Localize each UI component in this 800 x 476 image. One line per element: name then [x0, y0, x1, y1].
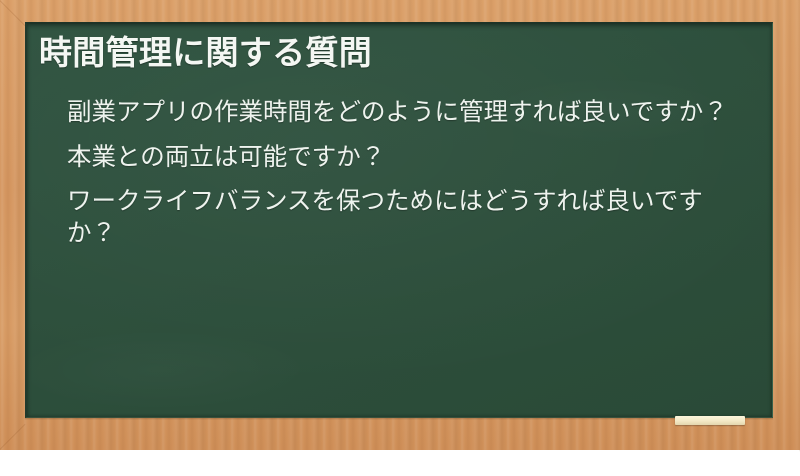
frame-miter-top-left [0, 0, 25, 26]
list-item: 本業との両立は可能ですか？ [67, 141, 744, 173]
frame-miter-bottom-left [0, 424, 25, 450]
slide-content: 時間管理に関する質問 副業アプリの作業時間をどのように管理すれば良いですか？ 本… [27, 24, 772, 250]
page-title: 時間管理に関する質問 [35, 32, 754, 74]
chalk-stick-icon [675, 416, 745, 425]
chalkboard-slide: 時間管理に関する質問 副業アプリの作業時間をどのように管理すれば良いですか？ 本… [0, 0, 800, 450]
list-item: 副業アプリの作業時間をどのように管理すれば良いですか？ [67, 96, 744, 128]
board-ledge-shadow [25, 417, 773, 420]
question-list: 副業アプリの作業時間をどのように管理すれば良いですか？ 本業との両立は可能ですか… [35, 96, 754, 249]
chalkboard-surface: 時間管理に関する質問 副業アプリの作業時間をどのように管理すれば良いですか？ 本… [25, 22, 773, 418]
list-item: ワークライフバランスを保つためにはどうすれば良いですか？ [67, 185, 744, 250]
